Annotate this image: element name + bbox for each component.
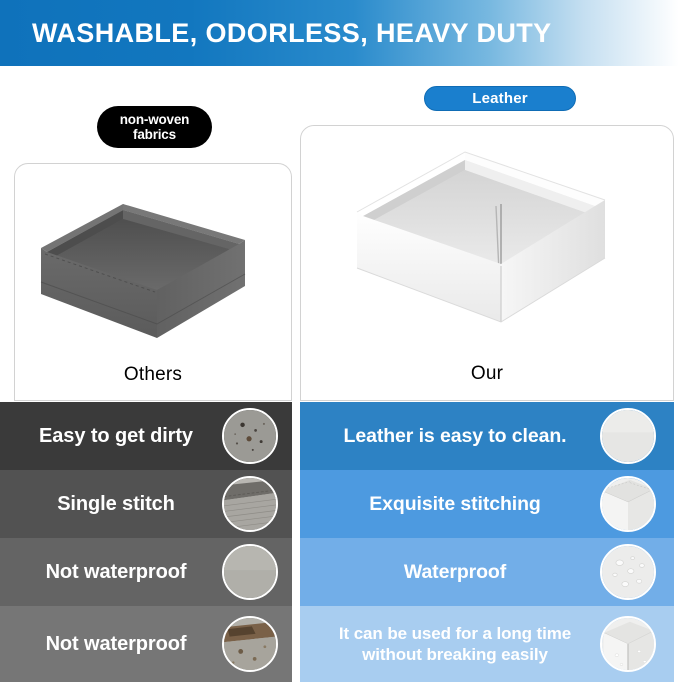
comparison-row: Single stitch bbox=[0, 470, 292, 538]
comparison-column-our: Leather is easy to clean. Exquisite stit… bbox=[300, 402, 674, 682]
comparison-row: Leather is easy to clean. bbox=[300, 402, 674, 470]
comparison-infographic: WASHABLE, ODORLESS, HEAVY DUTY bbox=[0, 0, 679, 682]
row-label: Not waterproof bbox=[0, 561, 222, 584]
product-caption-others: Others bbox=[15, 364, 291, 386]
comparison-row: Exquisite stitching bbox=[300, 470, 674, 538]
row-label: Exquisite stitching bbox=[300, 493, 600, 516]
product-caption-our: Our bbox=[301, 363, 673, 385]
row-label: Waterproof bbox=[300, 561, 600, 584]
comparison-row: Waterproof bbox=[300, 538, 674, 606]
comparison-row: Not waterproof bbox=[0, 606, 292, 682]
water-damaged-thumbnail bbox=[222, 616, 278, 672]
water-droplets-thumbnail bbox=[600, 544, 656, 600]
leather-stitching-thumbnail bbox=[600, 476, 656, 532]
column-divider bbox=[292, 390, 300, 682]
comparison-row: Easy to get dirty bbox=[0, 402, 292, 470]
badge-leather: Leather bbox=[424, 86, 576, 111]
comparison-column-others: Easy to get dirty Single stitch bbox=[0, 402, 292, 682]
row-label: It can be used for a long time without b… bbox=[300, 623, 600, 665]
row-label: Leather is easy to clean. bbox=[300, 425, 600, 448]
comparison-row: Not waterproof bbox=[0, 538, 292, 606]
badge-non-woven-fabrics: non-woven fabrics bbox=[97, 106, 212, 148]
badge-non-woven-line2: fabrics bbox=[120, 127, 189, 142]
clean-leather-thumbnail bbox=[600, 408, 656, 464]
gray-fabric-box-image bbox=[39, 186, 271, 354]
product-card-others: Others bbox=[14, 163, 292, 401]
page-title: WASHABLE, ODORLESS, HEAVY DUTY bbox=[32, 0, 552, 66]
row-label-line2: without breaking easily bbox=[314, 644, 596, 665]
plain-fabric-thumbnail bbox=[222, 544, 278, 600]
single-stitch-thumbnail bbox=[222, 476, 278, 532]
row-label-line1: It can be used for a long time bbox=[314, 623, 596, 644]
row-label: Single stitch bbox=[0, 493, 222, 516]
durable-leather-corner-thumbnail bbox=[600, 616, 656, 672]
row-label: Not waterproof bbox=[0, 633, 222, 656]
comparison-row: It can be used for a long time without b… bbox=[300, 606, 674, 682]
product-card-our: Our bbox=[300, 125, 674, 401]
white-leather-box-image bbox=[353, 144, 625, 344]
badge-non-woven-line1: non-woven bbox=[120, 112, 189, 127]
dirty-fabric-thumbnail bbox=[222, 408, 278, 464]
header-banner: WASHABLE, ODORLESS, HEAVY DUTY bbox=[0, 0, 679, 66]
row-label: Easy to get dirty bbox=[0, 425, 222, 448]
